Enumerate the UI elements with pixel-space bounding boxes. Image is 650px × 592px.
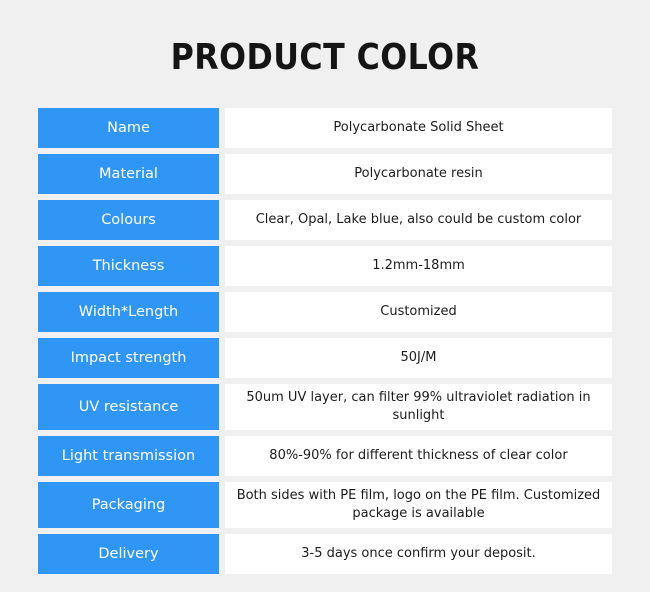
spec-label-colours: Colours xyxy=(38,200,219,240)
spec-value-uv-resistance: 50um UV layer, can filter 99% ultraviole… xyxy=(225,384,612,430)
spec-label-impact-strength: Impact strength xyxy=(38,338,219,378)
table-row: Width*Length Customized xyxy=(38,292,612,332)
table-row: Name Polycarbonate Solid Sheet xyxy=(38,108,612,148)
table-row: Thickness 1.2mm-18mm xyxy=(38,246,612,286)
spec-label-material: Material xyxy=(38,154,219,194)
spec-value-thickness: 1.2mm-18mm xyxy=(225,246,612,286)
table-row: Impact strength 50J/M xyxy=(38,338,612,378)
table-row: Material Polycarbonate resin xyxy=(38,154,612,194)
table-row: Packaging Both sides with PE film, logo … xyxy=(38,482,612,528)
spec-label-name: Name xyxy=(38,108,219,148)
spec-label-delivery: Delivery xyxy=(38,534,219,574)
spec-value-light-transmission: 80%-90% for different thickness of clear… xyxy=(225,436,612,476)
table-row: Light transmission 80%-90% for different… xyxy=(38,436,612,476)
table-row: Delivery 3-5 days once confirm your depo… xyxy=(38,534,612,574)
specification-table: Name Polycarbonate Solid Sheet Material … xyxy=(38,108,612,574)
spec-value-material: Polycarbonate resin xyxy=(225,154,612,194)
spec-label-width-length: Width*Length xyxy=(38,292,219,332)
spec-value-delivery: 3-5 days once confirm your deposit. xyxy=(225,534,612,574)
spec-label-uv-resistance: UV resistance xyxy=(38,384,219,430)
spec-value-packaging: Both sides with PE film, logo on the PE … xyxy=(225,482,612,528)
spec-label-light-transmission: Light transmission xyxy=(38,436,219,476)
spec-value-name: Polycarbonate Solid Sheet xyxy=(225,108,612,148)
spec-value-colours: Clear, Opal, Lake blue, also could be cu… xyxy=(225,200,612,240)
spec-label-packaging: Packaging xyxy=(38,482,219,528)
product-color-spec-page: PRODUCT COLOR Name Polycarbonate Solid S… xyxy=(0,0,650,592)
page-title: PRODUCT COLOR xyxy=(39,36,611,80)
spec-label-thickness: Thickness xyxy=(38,246,219,286)
table-row: Colours Clear, Opal, Lake blue, also cou… xyxy=(38,200,612,240)
spec-value-impact-strength: 50J/M xyxy=(225,338,612,378)
table-row: UV resistance 50um UV layer, can filter … xyxy=(38,384,612,430)
spec-value-width-length: Customized xyxy=(225,292,612,332)
